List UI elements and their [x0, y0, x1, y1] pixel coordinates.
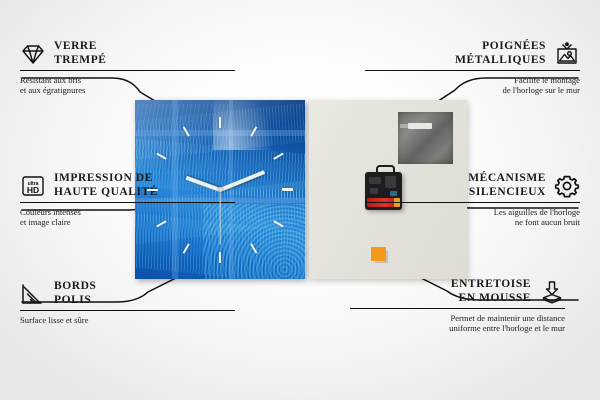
polished-edge-icon	[20, 282, 46, 306]
clock-hub	[218, 187, 223, 192]
feature-title: BORDSPOLIS	[54, 280, 96, 307]
divider	[350, 308, 565, 309]
divider	[365, 202, 580, 203]
hanger-slot	[408, 123, 432, 129]
second-hand	[219, 190, 220, 245]
feature-entretoise-en-mousse[interactable]: ENTRETOISEEN MOUSSE Permet de maintenir …	[350, 278, 565, 334]
feature-subtitle: Permet de maintenir une distanceuniforme…	[350, 313, 565, 334]
infographic-canvas: VERRETREMPÉ Résistant aux briset aux égr…	[0, 0, 600, 400]
feature-poignees-metalliques[interactable]: POIGNÉESMÉTALLIQUES Facilite le montaged…	[365, 40, 580, 96]
divider	[365, 70, 580, 71]
divider	[20, 310, 235, 311]
framed-picture-hanging-icon	[554, 42, 580, 66]
feature-subtitle: Facilite le montagede l'horloge sur le m…	[365, 75, 580, 96]
feature-bords-polis[interactable]: BORDSPOLIS Surface lisse et sûre	[20, 280, 235, 325]
feature-subtitle: Couleurs intenseset image claire	[20, 207, 235, 228]
svg-text:HD: HD	[27, 185, 39, 195]
feature-title: MÉCANISMESILENCIEUX	[468, 172, 546, 199]
ultra-hd-icon: ultra HD	[20, 174, 46, 198]
feature-title: ENTRETOISEEN MOUSSE	[451, 278, 531, 305]
feature-verre-trempe[interactable]: VERRETREMPÉ Résistant aux briset aux égr…	[20, 40, 235, 96]
metal-hanger-plate	[398, 112, 453, 164]
foam-spacer-icon	[539, 280, 565, 304]
feature-title: IMPRESSION DEHAUTE QUALITÉ	[54, 172, 158, 199]
divider	[20, 202, 235, 203]
feature-mecanisme-silencieux[interactable]: MÉCANISMESILENCIEUX Les aiguilles de l'h…	[365, 172, 580, 228]
gear-icon	[554, 174, 580, 198]
feature-subtitle: Résistant aux briset aux égratignures	[20, 75, 235, 96]
feature-title: POIGNÉESMÉTALLIQUES	[455, 40, 546, 67]
feature-subtitle: Surface lisse et sûre	[20, 315, 235, 326]
feature-title: VERRETREMPÉ	[54, 40, 107, 67]
divider	[20, 70, 235, 71]
feature-subtitle: Les aiguilles de l'horlogene font aucun …	[365, 207, 580, 228]
feature-impression-haute-qualite[interactable]: ultra HD IMPRESSION DEHAUTE QUALITÉ Coul…	[20, 172, 235, 228]
diamond-icon	[20, 42, 46, 66]
foam-spacer	[371, 247, 386, 261]
